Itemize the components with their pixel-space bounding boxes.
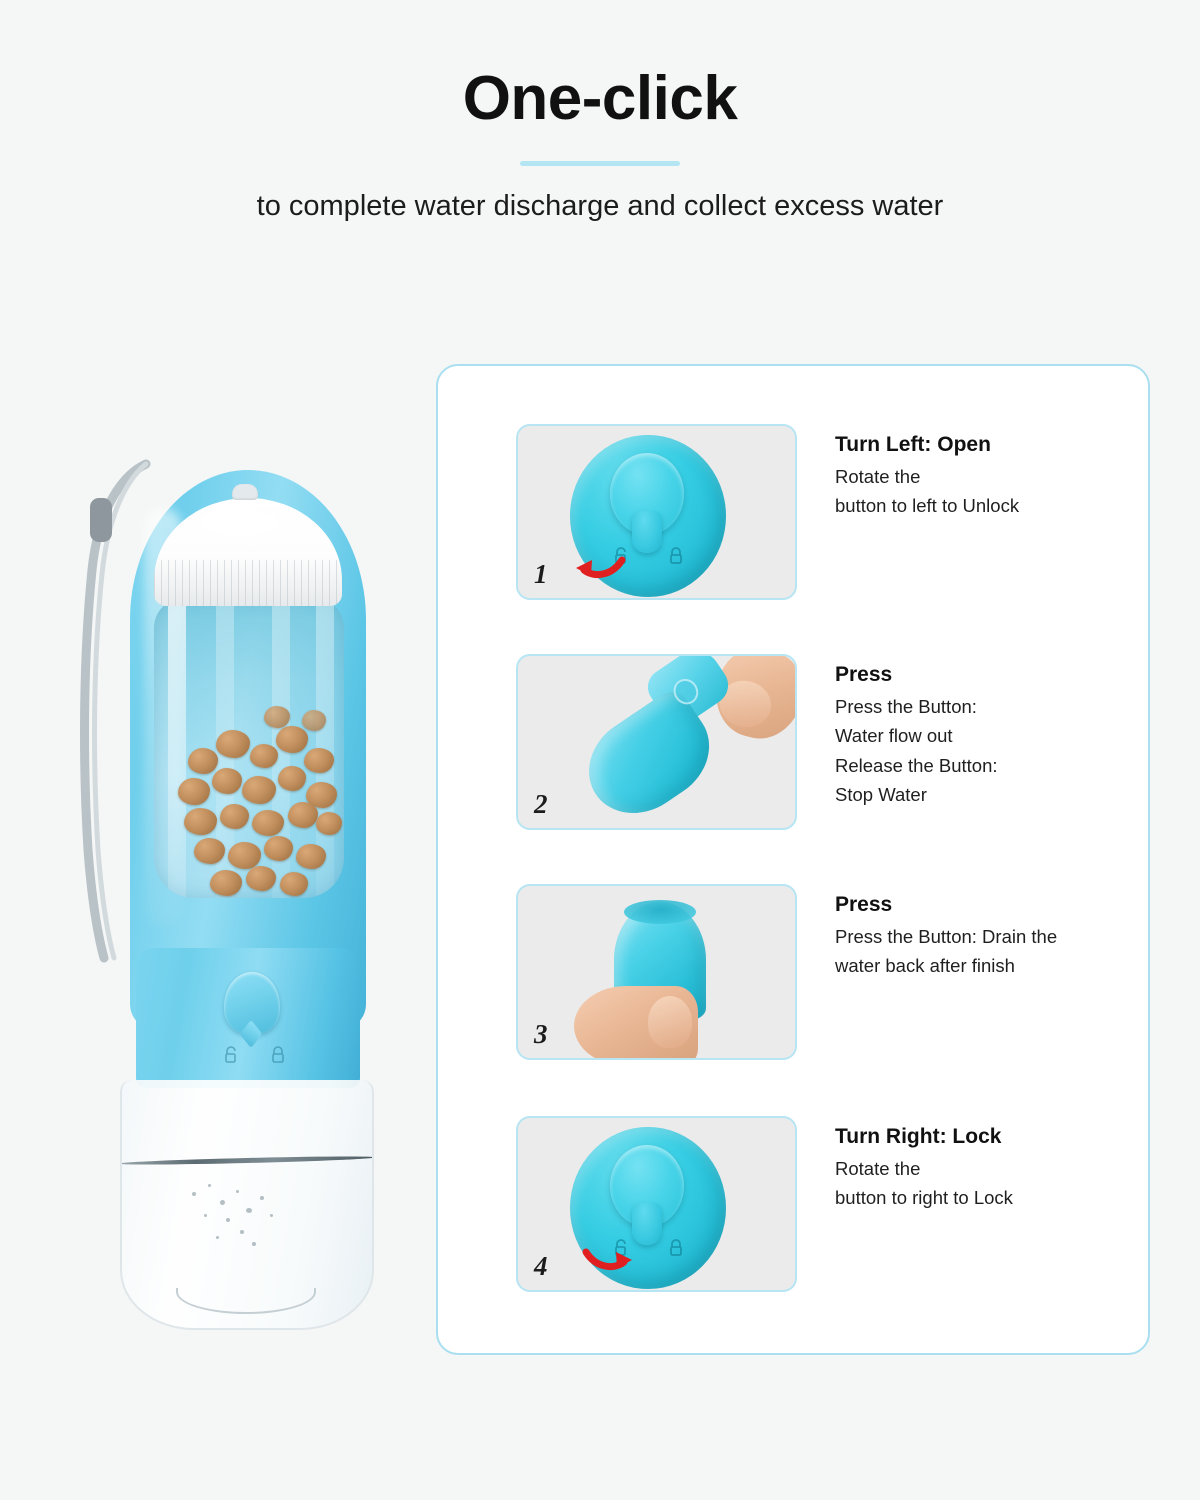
step-image-card: 3 bbox=[516, 884, 797, 1060]
press-button[interactable] bbox=[224, 972, 280, 1034]
hand-pressing-scoop-tilted-icon bbox=[518, 656, 795, 828]
rotate-right-arrow-icon bbox=[580, 1246, 636, 1272]
step-line: Release the Button: bbox=[835, 751, 998, 780]
step-number: 1 bbox=[534, 559, 548, 590]
product-image bbox=[30, 420, 420, 1340]
step-row: 2 Press Press the Button: Water flow out… bbox=[516, 654, 1116, 830]
step-text: Press Press the Button: Drain the water … bbox=[835, 884, 1057, 981]
step-text: Turn Left: Open Rotate the button to lef… bbox=[835, 424, 1019, 521]
step-number: 4 bbox=[534, 1251, 548, 1282]
step-line: water back after finish bbox=[835, 951, 1057, 980]
step-description: Rotate the button to left to Unlock bbox=[835, 462, 1019, 520]
water-reservoir bbox=[120, 1080, 374, 1330]
step-text: Turn Right: Lock Rotate the button to ri… bbox=[835, 1116, 1013, 1213]
step-image-card: 4 bbox=[516, 1116, 797, 1292]
step-heading: Press bbox=[835, 662, 998, 688]
bottle-mid-body bbox=[136, 948, 360, 1088]
water-bubbles bbox=[182, 1180, 302, 1250]
step-number: 2 bbox=[534, 789, 548, 820]
step-line: Press the Button: Drain the bbox=[835, 922, 1057, 951]
water-level-line bbox=[120, 1155, 374, 1166]
page-subtitle: to complete water discharge and collect … bbox=[0, 188, 1200, 226]
step-line: button to right to Lock bbox=[835, 1183, 1013, 1212]
title-divider bbox=[520, 161, 680, 166]
hand-pressing-scoop-upright-icon bbox=[518, 886, 795, 1058]
bottle-body bbox=[102, 448, 387, 1328]
step-line: Water flow out bbox=[835, 721, 998, 750]
dial-turn-right-icon bbox=[518, 1118, 795, 1290]
step-description: Press the Button: Water flow out Release… bbox=[835, 692, 998, 809]
bottle-base bbox=[176, 1288, 316, 1314]
page-title: One-click bbox=[0, 66, 1200, 131]
step-image-card: 2 bbox=[516, 654, 797, 830]
step-line: Stop Water bbox=[835, 780, 998, 809]
step-heading: Turn Left: Open bbox=[835, 432, 1019, 458]
lock-icon bbox=[668, 1239, 684, 1257]
instruction-steps-panel: 1 Turn Left: Open Rotate the button to l… bbox=[436, 364, 1150, 1355]
dial-turn-left-icon bbox=[518, 426, 795, 598]
step-line: button to left to Unlock bbox=[835, 491, 1019, 520]
step-image-card: 1 bbox=[516, 424, 797, 600]
step-row: 4 Turn Right: Lock Rotate the button to … bbox=[516, 1116, 1116, 1292]
step-line: Press the Button: bbox=[835, 692, 998, 721]
step-heading: Press bbox=[835, 892, 1057, 918]
step-row: 3 Press Press the Button: Drain the wate… bbox=[516, 884, 1116, 1060]
step-line: Rotate the bbox=[835, 462, 1019, 491]
step-row: 1 Turn Left: Open Rotate the button to l… bbox=[516, 424, 1116, 600]
step-description: Press the Button: Drain the water back a… bbox=[835, 922, 1057, 980]
page-header: One-click to complete water discharge an… bbox=[0, 0, 1200, 226]
step-heading: Turn Right: Lock bbox=[835, 1124, 1013, 1150]
rotate-left-arrow-icon bbox=[572, 554, 628, 580]
step-description: Rotate the button to right to Lock bbox=[835, 1154, 1013, 1212]
step-line: Rotate the bbox=[835, 1154, 1013, 1183]
step-number: 3 bbox=[534, 1019, 548, 1050]
hand-icon bbox=[574, 986, 698, 1060]
unlock-icon bbox=[222, 1046, 242, 1064]
lock-icon bbox=[668, 547, 684, 565]
step-text: Press Press the Button: Water flow out R… bbox=[835, 654, 998, 809]
lock-icon bbox=[270, 1046, 286, 1064]
food-compartment bbox=[154, 598, 344, 898]
lock-indicator-icons bbox=[222, 1046, 286, 1064]
cap-hinge-knob bbox=[232, 484, 258, 500]
